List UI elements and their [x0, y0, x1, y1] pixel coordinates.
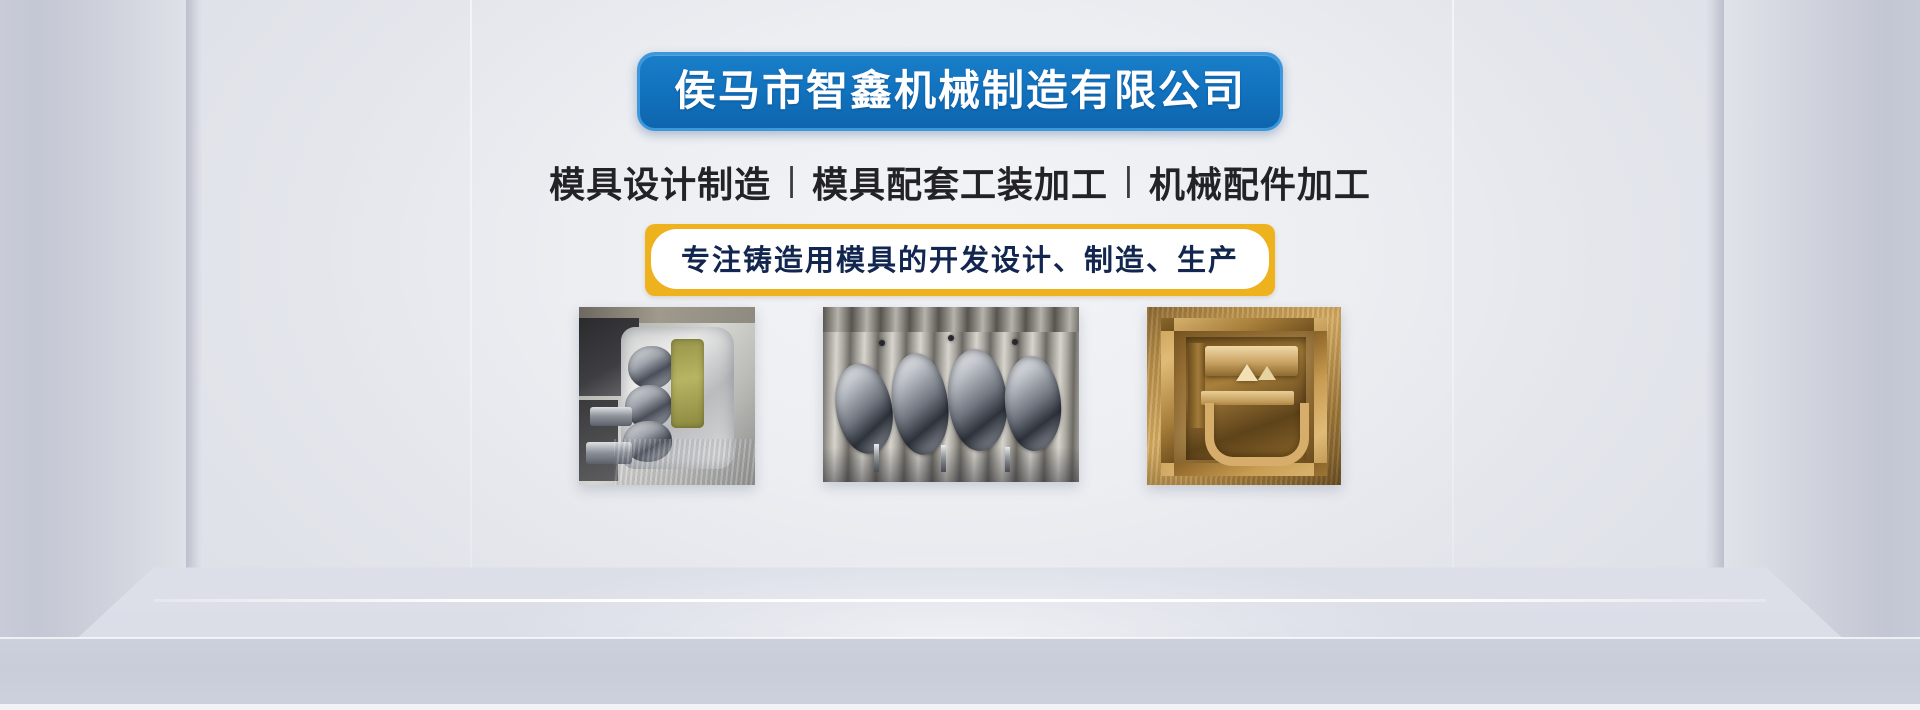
services-line: 模具设计制造 | 模具配套工装加工 | 机械配件加工 — [0, 156, 1920, 208]
photo2-upper-band — [823, 307, 1079, 332]
company-title-text: 侯马市智鑫机械制造有限公司 — [674, 68, 1246, 113]
service-item-mold-design: 模具设计制造 — [549, 156, 771, 208]
photo2-bore-hole-3 — [1012, 339, 1018, 345]
company-title-box: 侯马市智鑫机械制造有限公司 — [637, 52, 1283, 131]
company-hero-banner: 侯马市智鑫机械制造有限公司 模具设计制造 | 模具配套工装加工 | 机械配件加工… — [0, 0, 1920, 710]
photo2-bottom-shadow — [823, 447, 1079, 482]
photo1-green-insert — [671, 339, 704, 428]
ribbed-steel-blade-mold-photo — [823, 307, 1079, 482]
tagline-white-pill: 专注铸造用模具的开发设计、制造、生产 — [651, 229, 1269, 289]
photo1-machining-marks — [614, 439, 755, 485]
services-line-inner: 模具设计制造 | 模具配套工装加工 | 机械配件加工 — [549, 156, 1371, 208]
service-item-mechanical-parts: 机械配件加工 — [1149, 156, 1371, 208]
service-separator-1: | — [771, 161, 812, 200]
photo3-vignette — [1147, 307, 1341, 485]
tagline-wrapper: 专注铸造用模具的开发设计、制造、生产 — [0, 224, 1920, 296]
aluminium-die-cavity-photo — [579, 307, 755, 485]
service-item-tooling-machining: 模具配套工装加工 — [812, 156, 1108, 208]
wooden-pattern-mould-photo — [1147, 307, 1341, 485]
tagline-yellow-frame: 专注铸造用模具的开发设计、制造、生产 — [645, 224, 1275, 296]
tagline-text: 专注铸造用模具的开发设计、制造、生产 — [681, 245, 1239, 277]
company-title-wrapper: 侯马市智鑫机械制造有限公司 — [637, 52, 1283, 131]
banner-content: 侯马市智鑫机械制造有限公司 模具设计制造 | 模具配套工装加工 | 机械配件加工… — [0, 0, 1920, 710]
product-photo-row — [0, 307, 1920, 492]
service-separator-2: | — [1108, 161, 1149, 200]
photo1-blade-form-1 — [628, 346, 674, 389]
photo1-stud-1 — [590, 407, 632, 427]
